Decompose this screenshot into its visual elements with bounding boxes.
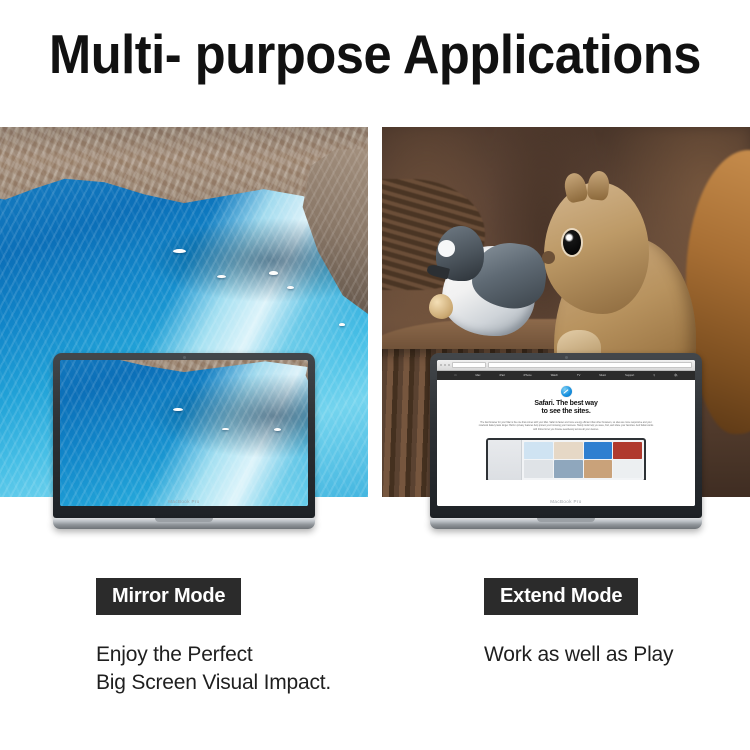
- nuthatch-bird: [434, 223, 544, 349]
- mirrored-photo: [60, 360, 308, 506]
- favorite-tile: [554, 460, 583, 478]
- page-title: Multi- purpose Applications: [30, 24, 720, 84]
- favorite-tile: [584, 460, 613, 478]
- favorite-tile: [613, 442, 642, 460]
- search-icon[interactable]: ⚲: [653, 374, 655, 377]
- safari-start-page: [488, 440, 644, 480]
- window-controls[interactable]: [440, 364, 450, 366]
- laptop-lid: MacBook Pro: [53, 353, 315, 518]
- safari-headline-line2: to see the sites.: [534, 408, 597, 416]
- laptop-base: [430, 518, 702, 529]
- nav-item-tv[interactable]: TV: [577, 374, 580, 377]
- favorite-tile: [524, 442, 553, 460]
- nav-item-music[interactable]: Music: [599, 374, 606, 377]
- apple-logo-icon[interactable]: : [455, 374, 457, 377]
- safari-paragraph: The fast browser for your Mac is the one…: [478, 422, 653, 433]
- favorite-tile: [613, 460, 642, 478]
- boat-icon: [173, 249, 186, 253]
- panels-row: MacBook Pro: [0, 127, 750, 531]
- squirrel-head: [544, 182, 649, 313]
- squirrel-ear: [562, 171, 589, 204]
- browser-tab[interactable]: [452, 362, 486, 368]
- panel-extend-mode:  Mac iPad iPhone Watch TV Music Support…: [382, 127, 750, 531]
- nav-item-mac[interactable]: Mac: [475, 374, 480, 377]
- safari-compass-icon: [561, 386, 572, 397]
- safari-screenshot-image: [486, 438, 646, 480]
- cove-water-mirrored: [60, 360, 308, 506]
- water-texture-mirrored: [60, 360, 308, 506]
- minimize-icon[interactable]: [444, 364, 446, 366]
- laptop-base: [53, 518, 315, 529]
- panel-mirror-mode: MacBook Pro: [0, 127, 368, 531]
- favorite-tile: [554, 442, 583, 460]
- safari-headline: Safari. The best way to see the sites.: [534, 400, 597, 417]
- safari-sidebar: [488, 440, 522, 480]
- caption-column-extend: Extend Mode Work as well as Play: [484, 578, 673, 669]
- bird-cheek: [438, 240, 455, 257]
- caption-column-mirror: Mirror Mode Enjoy the Perfect Big Screen…: [96, 578, 331, 697]
- nav-item-ipad[interactable]: iPad: [499, 374, 504, 377]
- safari-window:  Mac iPad iPhone Watch TV Music Support…: [437, 360, 695, 506]
- laptop-model-label: MacBook Pro: [60, 499, 308, 504]
- nav-item-support[interactable]: Support: [625, 374, 634, 377]
- boat-icon: [269, 271, 278, 275]
- caption-text-mirror: Enjoy the Perfect Big Screen Visual Impa…: [96, 641, 331, 697]
- laptop-screen-safari:  Mac iPad iPhone Watch TV Music Support…: [437, 360, 695, 506]
- close-icon[interactable]: [440, 364, 442, 366]
- favorite-tile: [524, 460, 553, 478]
- squirrel-ear: [587, 169, 611, 200]
- promo-page: Multi- purpose Applications: [0, 0, 750, 750]
- boat-icon: [339, 323, 345, 326]
- squirrel-nose: [542, 251, 556, 264]
- safari-headline-line1: Safari. The best way: [534, 400, 597, 408]
- boat-icon: [274, 428, 281, 431]
- webcam-icon: [565, 356, 568, 359]
- captions-row: Mirror Mode Enjoy the Perfect Big Screen…: [0, 578, 750, 718]
- nut-icon: [429, 294, 453, 319]
- favorites-grid: [522, 440, 644, 480]
- laptop-mirror: MacBook Pro: [53, 353, 315, 529]
- safari-page-body: Safari. The best way to see the sites. T…: [437, 380, 695, 506]
- boat-icon: [287, 286, 294, 289]
- boat-icon: [217, 275, 226, 278]
- status-badge-mirror-mode: Mirror Mode: [96, 578, 241, 615]
- laptop-model-label: MacBook Pro: [437, 499, 695, 504]
- safari-toolbar[interactable]: [437, 360, 695, 371]
- favorite-tile: [584, 442, 613, 460]
- status-badge-extend-mode: Extend Mode: [484, 578, 638, 615]
- squirrel-eye: [563, 230, 581, 255]
- boat-icon: [173, 408, 183, 411]
- laptop-screen-mirror: MacBook Pro: [60, 360, 308, 506]
- laptop-extend:  Mac iPad iPhone Watch TV Music Support…: [430, 353, 702, 529]
- shopping-bag-icon[interactable]: 🛍: [674, 374, 677, 377]
- nav-item-watch[interactable]: Watch: [551, 374, 558, 377]
- laptop-lid:  Mac iPad iPhone Watch TV Music Support…: [430, 353, 702, 518]
- nav-item-iphone[interactable]: iPhone: [524, 374, 532, 377]
- caption-text-extend: Work as well as Play: [484, 641, 673, 669]
- maximize-icon[interactable]: [448, 364, 450, 366]
- address-bar[interactable]: [488, 362, 692, 368]
- site-navigation-bar[interactable]:  Mac iPad iPhone Watch TV Music Support…: [437, 371, 695, 380]
- webcam-icon: [183, 356, 186, 359]
